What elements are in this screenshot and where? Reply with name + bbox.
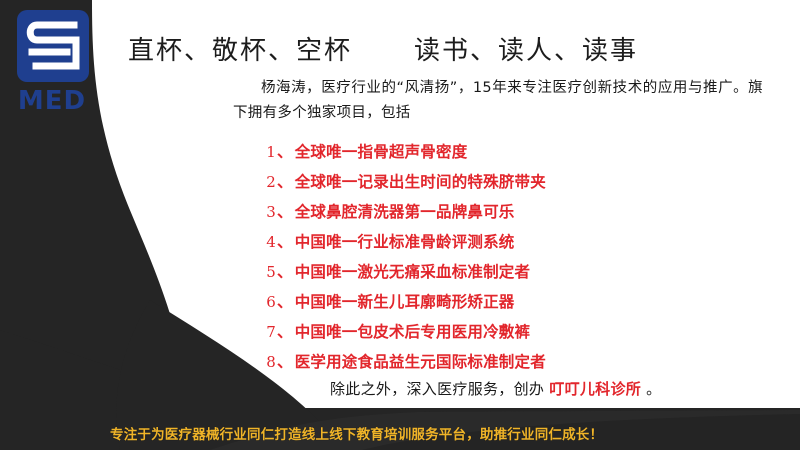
list-item-label: 全球鼻腔清洗器第一品牌鼻可乐 xyxy=(295,200,515,222)
list-item-label: 中国唯一行业标准骨龄评测系统 xyxy=(295,230,515,252)
list-item: 5、中国唯一激光无痛采血标准制定者 xyxy=(262,260,682,290)
title-left-phrase: 直杯、敬杯、空杯 xyxy=(128,30,352,67)
closing-line: 除此之外，深入医疗服务，创办 叮叮儿科诊所 。 xyxy=(330,378,661,399)
list-item-number: 1 xyxy=(262,143,276,161)
list-item-separator: 、 xyxy=(277,170,293,192)
list-item-number: 8 xyxy=(262,353,276,371)
list-item-label: 中国唯一激光无痛采血标准制定者 xyxy=(295,260,531,282)
list-item: 7、中国唯一包皮术后专用医用冷敷裤 xyxy=(262,320,682,350)
list-item: 3、全球鼻腔清洗器第一品牌鼻可乐 xyxy=(262,200,682,230)
list-item-separator: 、 xyxy=(277,350,293,372)
list-item-number: 6 xyxy=(262,293,276,311)
title-right-phrase: 读书、读人、读事 xyxy=(414,30,638,67)
list-item-number: 7 xyxy=(262,323,276,341)
clinic-name-highlight: 叮叮儿科诊所 xyxy=(549,380,641,398)
closing-prefix: 除此之外，深入医疗服务，创办 xyxy=(330,380,544,398)
list-item-separator: 、 xyxy=(277,200,293,222)
list-item-label: 全球唯一指骨超声骨密度 xyxy=(295,140,468,162)
logo-wordmark: MED xyxy=(18,86,86,116)
list-item-label: 医学用途食品益生元国际标准制定者 xyxy=(295,350,546,372)
list-item: 1、全球唯一指骨超声骨密度 xyxy=(262,140,682,170)
list-item: 2、全球唯一记录出生时间的特殊脐带夹 xyxy=(262,170,682,200)
closing-suffix: 。 xyxy=(646,380,661,398)
list-item-separator: 、 xyxy=(277,260,293,282)
list-item-separator: 、 xyxy=(277,230,293,252)
intro-paragraph: 杨海涛，医疗行业的“风清扬”，15年来专注医疗创新技术的应用与推广。旗下拥有多个… xyxy=(233,76,763,126)
logo: MED xyxy=(14,8,100,116)
list-item: 6、中国唯一新生儿耳廓畸形矫正器 xyxy=(262,290,682,320)
list-item-separator: 、 xyxy=(277,140,293,162)
list-item-number: 4 xyxy=(262,233,276,251)
achievement-list: 1、全球唯一指骨超声骨密度2、全球唯一记录出生时间的特殊脐带夹3、全球鼻腔清洗器… xyxy=(262,140,682,380)
list-item-label: 中国唯一包皮术后专用医用冷敷裤 xyxy=(295,320,531,342)
list-item-label: 中国唯一新生儿耳廓畸形矫正器 xyxy=(295,290,515,312)
footer-tagline: 专注于为医疗器械行业同仁打造线上线下教育培训服务平台，助推行业同仁成长！ xyxy=(110,423,603,443)
list-item-number: 2 xyxy=(262,173,276,191)
list-item-number: 5 xyxy=(262,263,276,281)
footer-banner: 专注于为医疗器械行业同仁打造线上线下教育培训服务平台，助推行业同仁成长！ xyxy=(0,415,800,450)
list-item-number: 3 xyxy=(262,203,276,221)
list-item-separator: 、 xyxy=(277,320,293,342)
list-item-label: 全球唯一记录出生时间的特殊脐带夹 xyxy=(295,170,546,192)
list-item-separator: 、 xyxy=(277,290,293,312)
list-item: 8、医学用途食品益生元国际标准制定者 xyxy=(262,350,682,380)
page-title: 直杯、敬杯、空杯 读书、读人、读事 xyxy=(110,30,770,67)
slide-canvas: MED 直杯、敬杯、空杯 读书、读人、读事 杨海涛，医疗行业的“风清扬”，15年… xyxy=(0,0,800,450)
list-item: 4、中国唯一行业标准骨龄评测系统 xyxy=(262,230,682,260)
